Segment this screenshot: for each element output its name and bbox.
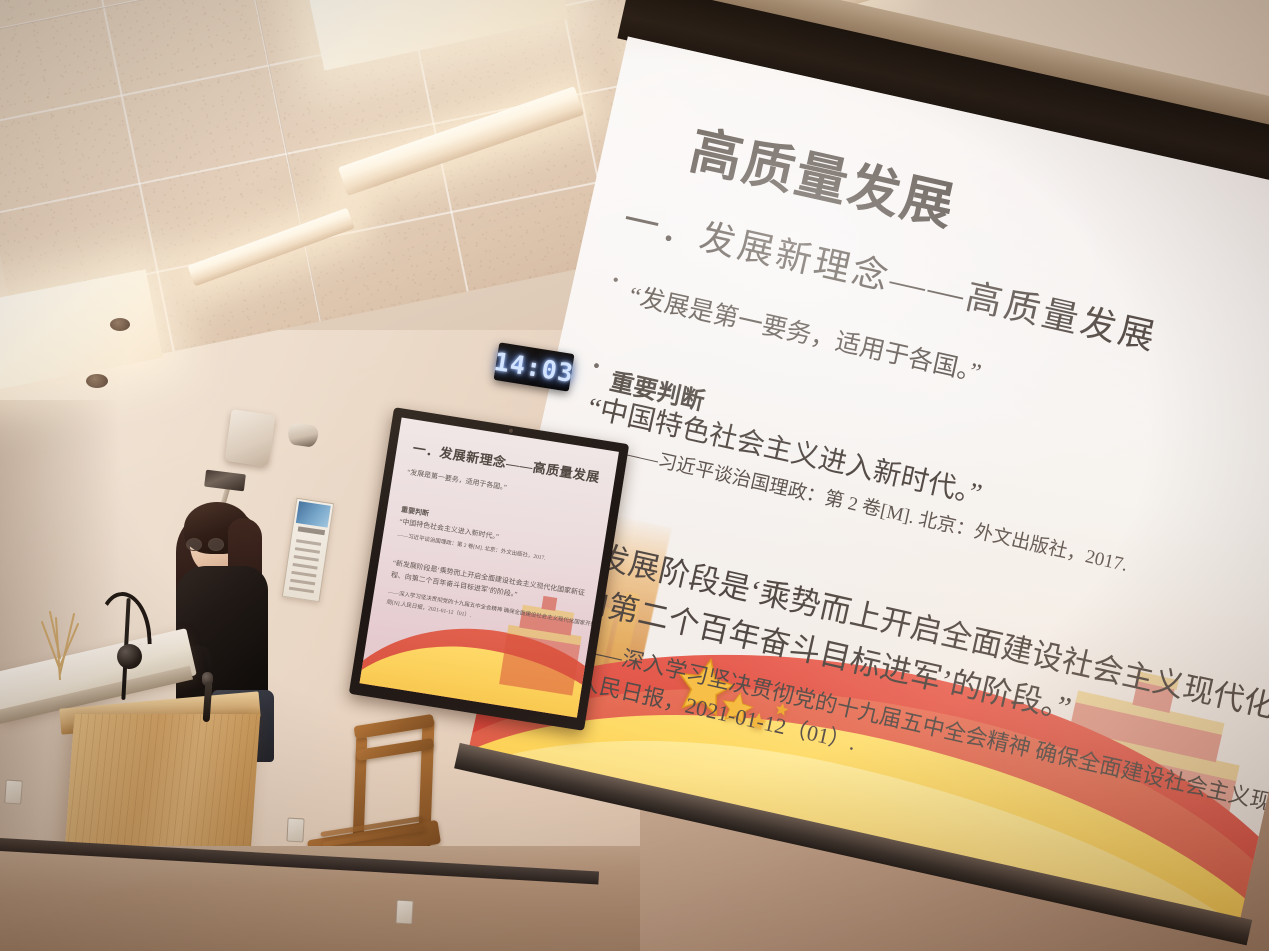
ceiling-downlight-2 [86, 374, 108, 388]
notice-title-bar [298, 526, 325, 535]
monitor-line-1: “发展是第一要务，适用于各国。” [406, 467, 507, 493]
decorative-twigs [30, 600, 90, 680]
ceiling-downlight-1 [110, 318, 130, 331]
monitor-tiananmen-motif [491, 586, 593, 708]
wall-monitor: 一．发展新理念——高质量发展 “发展是第一要务，适用于各国。” 重要判断 “中国… [349, 407, 629, 731]
notice-header [296, 501, 331, 527]
glasses-icon [186, 538, 226, 551]
wall-outlet-3 [395, 900, 413, 925]
monitor-screen: 一．发展新理念——高质量发展 “发展是第一要务，适用于各国。” 重要判断 “中国… [360, 417, 619, 717]
wall-speaker [225, 409, 276, 467]
wall-outlet-2 [286, 818, 304, 843]
clock-time: 14:03 [492, 346, 576, 387]
wall-outlet-1 [4, 779, 23, 804]
lecture-hall-photo: 高质量发展 一．发展新理念——高质量发展 “发展是第一要务，适用于各国。” 重要… [0, 0, 1269, 951]
microphone-icon [117, 644, 142, 669]
